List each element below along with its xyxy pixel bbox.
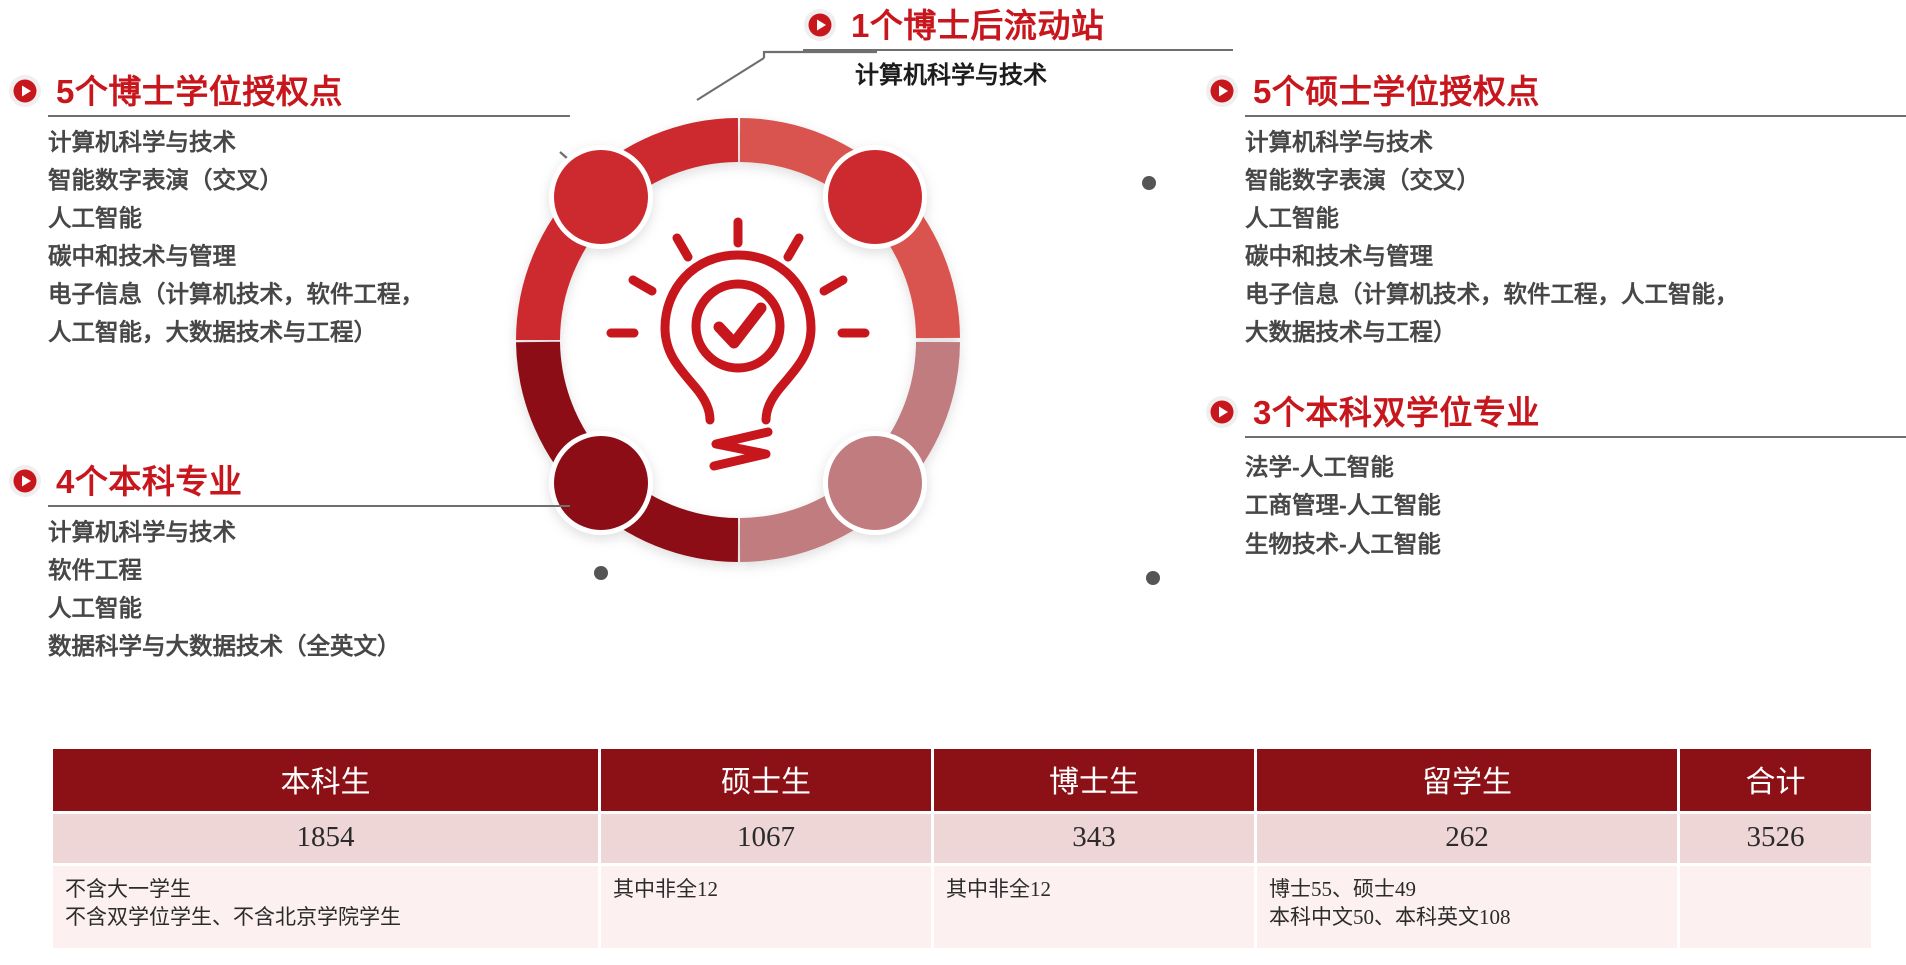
- table-header-cell: 硕士生: [601, 749, 931, 811]
- play-circle-icon: [8, 74, 42, 108]
- lightbulb-check-icon: [611, 222, 865, 466]
- list-item: 计算机科学与技术: [855, 57, 1233, 96]
- undergrad-list: 计算机科学与技术 软件工程 人工智能 数据科学与大数据技术（全英文）: [48, 513, 570, 665]
- dual-list: 法学-人工智能 工商管理-人工智能 生物技术-人工智能: [1245, 448, 1905, 563]
- undergrad-rule: [48, 505, 570, 507]
- infographic-root: 1个博士后流动站 计算机科学与技术 5个博士学位授权点 计算机科学与技术 智能数…: [0, 0, 1906, 965]
- play-circle-icon: [1205, 74, 1239, 108]
- table-value-cell: 343: [934, 814, 1254, 863]
- list-item: 智能数字表演（交叉）: [48, 161, 570, 199]
- table-header-cell: 合计: [1680, 749, 1871, 811]
- table-note-cell: [1680, 866, 1871, 948]
- doctoral-header: 5个博士学位授权点: [8, 74, 570, 108]
- list-item: 智能数字表演（交叉）: [1245, 161, 1905, 199]
- list-item: 计算机科学与技术: [48, 513, 570, 551]
- table-header-cell: 留学生: [1257, 749, 1677, 811]
- undergrad-header: 4个本科专业: [8, 464, 570, 498]
- section-dual: 3个本科双学位专业 法学-人工智能 工商管理-人工智能 生物技术-人工智能: [1205, 395, 1905, 563]
- table-value-cell: 1067: [601, 814, 931, 863]
- section-undergrad: 4个本科专业 计算机科学与技术 软件工程 人工智能 数据科学与大数据技术（全英文…: [8, 464, 570, 665]
- list-item: 碳中和技术与管理: [1245, 237, 1905, 275]
- section-doctoral: 5个博士学位授权点 计算机科学与技术 智能数字表演（交叉） 人工智能 碳中和技术…: [8, 74, 570, 351]
- list-item: 人工智能: [48, 199, 570, 237]
- list-item: 人工智能: [48, 589, 570, 627]
- list-item: 碳中和技术与管理: [48, 237, 570, 275]
- play-circle-icon: [803, 8, 837, 42]
- table-note-cell: 不含大一学生 不含双学位学生、不含北京学院学生: [53, 866, 598, 948]
- master-title: 5个硕士学位授权点: [1253, 75, 1540, 108]
- dual-rule: [1245, 436, 1906, 438]
- note-line: 本科中文50、本科英文108: [1269, 903, 1665, 931]
- doctoral-rule: [48, 115, 570, 117]
- dual-header: 3个本科双学位专业: [1205, 395, 1905, 429]
- list-item: 计算机科学与技术: [48, 123, 570, 161]
- list-item: 大数据技术与工程）: [1245, 313, 1905, 351]
- table-header-row: 本科生 硕士生 博士生 留学生 合计: [53, 749, 1871, 811]
- table-note-cell: 博士55、硕士49 本科中文50、本科英文108: [1257, 866, 1677, 948]
- list-item: 软件工程: [48, 551, 570, 589]
- doctoral-list: 计算机科学与技术 智能数字表演（交叉） 人工智能 碳中和技术与管理 电子信息（计…: [48, 123, 570, 351]
- list-item: 法学-人工智能: [1245, 448, 1905, 486]
- master-list: 计算机科学与技术 智能数字表演（交叉） 人工智能 碳中和技术与管理 电子信息（计…: [1245, 123, 1905, 351]
- play-circle-icon: [1205, 395, 1239, 429]
- table-value-row: 1854 1067 343 262 3526: [53, 814, 1871, 863]
- student-stats-table: 本科生 硕士生 博士生 留学生 合计 1854 1067 343 262 352…: [50, 746, 1874, 951]
- postdoc-header: 1个博士后流动站: [803, 8, 1233, 42]
- postdoc-list: 计算机科学与技术: [855, 57, 1233, 96]
- section-postdoc: 1个博士后流动站 计算机科学与技术: [803, 8, 1233, 96]
- list-item: 人工智能，大数据技术与工程）: [48, 313, 570, 351]
- table-header-cell: 本科生: [53, 749, 598, 811]
- note-line: 博士55、硕士49: [1269, 875, 1665, 903]
- doctoral-title: 5个博士学位授权点: [56, 75, 343, 108]
- list-item: 数据科学与大数据技术（全英文）: [48, 627, 570, 665]
- master-header: 5个硕士学位授权点: [1205, 74, 1905, 108]
- postdoc-title: 1个博士后流动站: [851, 9, 1104, 42]
- table-note-cell: 其中非全12: [601, 866, 931, 948]
- play-circle-icon: [8, 464, 42, 498]
- table-header-cell: 博士生: [934, 749, 1254, 811]
- table-value-cell: 1854: [53, 814, 598, 863]
- list-item: 生物技术-人工智能: [1245, 525, 1905, 563]
- section-master: 5个硕士学位授权点 计算机科学与技术 智能数字表演（交叉） 人工智能 碳中和技术…: [1205, 74, 1905, 351]
- table-note-row: 不含大一学生 不含双学位学生、不含北京学院学生 其中非全12 其中非全12 博士…: [53, 866, 1871, 948]
- table-value-cell: 3526: [1680, 814, 1871, 863]
- list-item: 人工智能: [1245, 199, 1905, 237]
- dual-title: 3个本科双学位专业: [1253, 396, 1540, 429]
- master-rule: [1245, 115, 1906, 117]
- table-note-cell: 其中非全12: [934, 866, 1254, 948]
- note-line: 其中非全12: [946, 875, 1242, 903]
- postdoc-rule: [803, 49, 1233, 51]
- list-item: 电子信息（计算机技术，软件工程，人工智能，: [1245, 275, 1905, 313]
- note-line: 不含双学位学生、不含北京学院学生: [65, 903, 586, 931]
- list-item: 计算机科学与技术: [1245, 123, 1905, 161]
- table-value-cell: 262: [1257, 814, 1677, 863]
- undergrad-title: 4个本科专业: [56, 465, 242, 498]
- list-item: 电子信息（计算机技术，软件工程，: [48, 275, 570, 313]
- list-item: 工商管理-人工智能: [1245, 486, 1905, 524]
- note-line: 不含大一学生: [65, 875, 586, 903]
- note-line: 其中非全12: [613, 875, 919, 903]
